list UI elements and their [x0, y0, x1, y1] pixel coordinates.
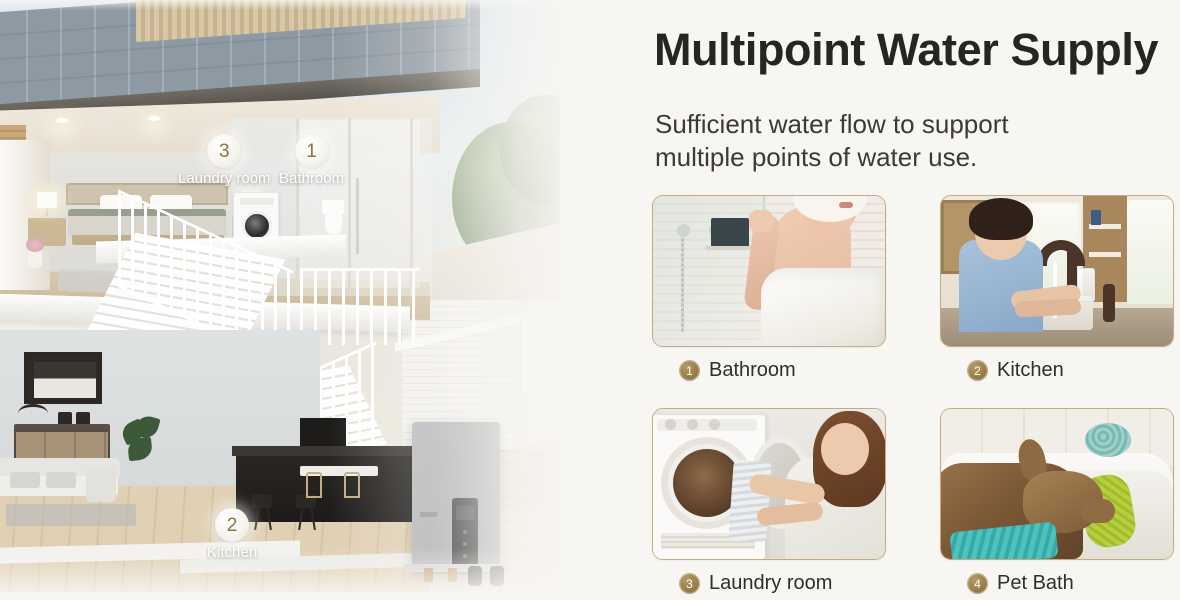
vase [28, 250, 42, 268]
product-feature-banner: 3 Laundry room 1 Bathroom 2 Kitchen Mult… [0, 0, 1180, 600]
card-image-bathroom[interactable] [652, 195, 886, 347]
house-marker-laundry-room[interactable]: 3 Laundry room [178, 134, 271, 187]
card-caption: 1 Bathroom [679, 359, 884, 382]
neighbour-door [520, 320, 558, 394]
woman-loading-dryer-icon [653, 409, 885, 559]
heater-button [463, 554, 467, 558]
downlight-icon [56, 118, 68, 123]
use-case-grid: 1 Bathroom [652, 195, 1172, 595]
caption-label: Bathroom [709, 359, 796, 382]
house-marker-kitchen[interactable]: 2 Kitchen [207, 508, 257, 561]
heater-pipe [448, 568, 457, 582]
heater-button [463, 542, 467, 546]
marker-label: Laundry room [178, 170, 271, 187]
card-caption: 4 Pet Bath [967, 572, 1172, 595]
use-case-row: 1 Bathroom [652, 195, 1172, 382]
heater-button [463, 530, 467, 534]
dining-chair [306, 472, 322, 498]
toilet-icon [322, 200, 344, 234]
heater-control-panel [452, 498, 478, 570]
house-illustration-panel: 3 Laundry room 1 Bathroom 2 Kitchen [0, 0, 590, 600]
sofa-arm [86, 468, 116, 502]
house-cutaway-render [0, 0, 560, 592]
card-caption: 2 Kitchen [967, 359, 1172, 382]
card-image-laundry-room[interactable] [652, 408, 886, 560]
wall-art [24, 352, 102, 404]
marker-badge: 3 [207, 134, 241, 168]
potted-plant-icon [120, 416, 162, 472]
page-title: Multipoint Water Supply [654, 26, 1158, 73]
caption-badge: 1 [679, 360, 700, 381]
heater-display [456, 506, 474, 520]
heater-pipe [424, 568, 433, 582]
caption-label: Laundry room [709, 572, 832, 595]
cushion [10, 472, 40, 488]
dog-in-bathtub-icon [941, 409, 1173, 559]
heater-cap [490, 566, 504, 586]
content-panel: Multipoint Water Supply Sufficient water… [590, 0, 1180, 600]
shower-rail [356, 178, 359, 254]
kitchen-island [236, 452, 426, 522]
caption-badge: 4 [967, 573, 988, 594]
marker-label: Kitchen [207, 544, 257, 561]
card-image-kitchen[interactable] [940, 195, 1174, 347]
caption-label: Pet Bath [997, 572, 1074, 595]
table-lamp-icon [37, 192, 57, 208]
dining-chair [344, 472, 360, 498]
boy-washing-hands-sink-icon [941, 196, 1173, 346]
heater-cap [468, 566, 482, 586]
marker-badge: 1 [295, 134, 329, 168]
card-caption: 3 Laundry room [679, 572, 884, 595]
woman-in-towel-shower-icon [653, 196, 885, 346]
caption-badge: 3 [679, 573, 700, 594]
bar-stool-icon [252, 494, 272, 508]
use-case-row: 3 Laundry room [652, 408, 1172, 595]
downlight-icon [148, 116, 160, 121]
wall-art-print [34, 362, 96, 398]
use-case-laundry-room[interactable]: 3 Laundry room [652, 408, 884, 595]
toilet-bowl [325, 213, 342, 234]
flower-icon [26, 238, 44, 252]
use-case-bathroom[interactable]: 1 Bathroom [652, 195, 884, 382]
caption-label: Kitchen [997, 359, 1064, 382]
marker-label: Bathroom [279, 170, 344, 187]
house-marker-bathroom[interactable]: 1 Bathroom [279, 134, 344, 187]
caption-badge: 2 [967, 360, 988, 381]
curtain [0, 140, 50, 290]
countertop [232, 446, 428, 456]
card-image-pet-bath[interactable] [940, 408, 1174, 560]
use-case-pet-bath[interactable]: 4 Pet Bath [940, 408, 1172, 595]
page-subtitle: Sufficient water flow to support multipl… [655, 108, 1085, 174]
marker-badge: 2 [215, 508, 249, 542]
washer-control-panel [240, 198, 274, 205]
cushion [46, 472, 76, 488]
living-rug [6, 504, 136, 526]
toilet-tank [322, 200, 344, 214]
desk-lamp-icon [18, 404, 48, 423]
use-case-kitchen[interactable]: 2 Kitchen [940, 195, 1172, 382]
